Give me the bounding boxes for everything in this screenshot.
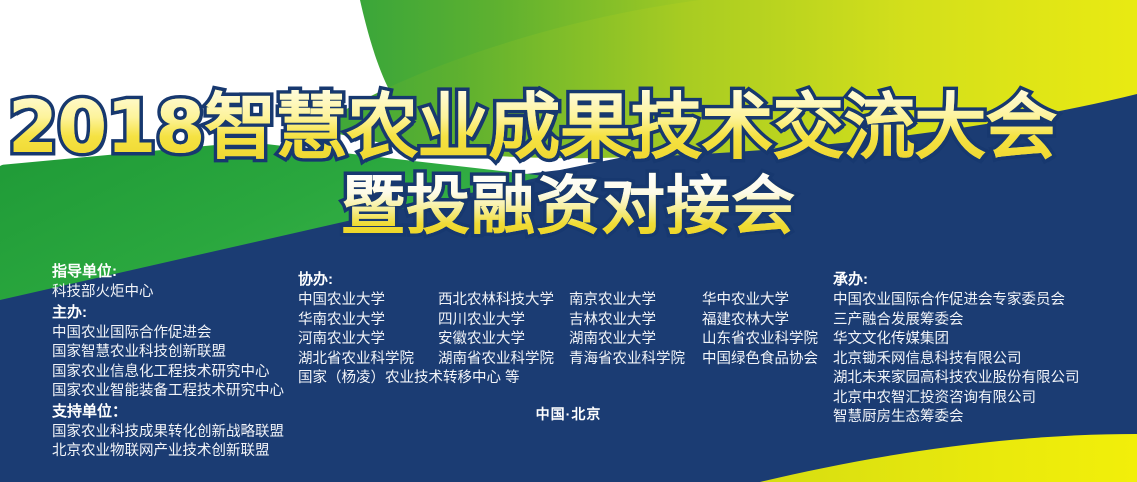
co-organizer-item: 青海省农业科学院 <box>569 350 702 370</box>
guide-unit-heading: 指导单位: <box>52 262 312 282</box>
organizer-item: 北京锄禾网信息科技有限公司 <box>833 350 1133 370</box>
co-organizer-row: 中国农业大学 西北农林科技大学 南京农业大学 华中农业大学 <box>298 291 818 311</box>
organizer-item: 华文文化传媒集团 <box>833 330 1133 350</box>
co-organizer-item: 湖北省农业科学院 <box>298 350 438 370</box>
host-unit-heading: 主办: <box>52 303 312 323</box>
credits-column-middle: 协办: 中国农业大学 西北农林科技大学 南京农业大学 华中农业大学 华南农业大学… <box>298 270 818 389</box>
event-banner-poster: 2018智慧农业成果技术交流大会 2018智慧农业成果技术交流大会 暨投融资对接… <box>0 0 1137 482</box>
co-organizer-item: 华南农业大学 <box>298 311 438 331</box>
co-organizer-item: 湖南农业大学 <box>569 330 702 350</box>
co-organizer-item: 河南农业大学 <box>298 330 438 350</box>
support-unit-item: 国家农业科技成果转化创新战略联盟 <box>52 423 312 443</box>
co-organizer-item: 中国绿色食品协会 <box>702 350 818 370</box>
co-organizer-item: 湖南省农业科学院 <box>438 350 569 370</box>
co-organizer-item: 福建农林大学 <box>702 311 789 331</box>
co-organizer-item: 安徽农业大学 <box>438 330 569 350</box>
co-organizer-item: 吉林农业大学 <box>569 311 702 331</box>
organizer-heading: 承办: <box>833 270 1133 290</box>
co-organizer-row: 湖北省农业科学院 湖南省农业科学院 青海省农业科学院 中国绿色食品协会 <box>298 350 818 370</box>
credits-column-left: 指导单位: 科技部火炬中心 主办: 中国农业国际合作促进会 国家智慧农业科技创新… <box>52 262 312 462</box>
guide-unit-item: 科技部火炬中心 <box>52 283 312 303</box>
co-organizer-tail: 国家（杨凌）农业技术转移中心 等 <box>298 369 818 389</box>
host-unit-item: 国家农业信息化工程技术研究中心 <box>52 363 312 383</box>
co-organizer-item: 中国农业大学 <box>298 291 438 311</box>
co-organizer-row: 河南农业大学 安徽农业大学 湖南农业大学 山东省农业科学院 <box>298 330 818 350</box>
organizer-item: 三产融合发展筹委会 <box>833 311 1133 331</box>
support-unit-item: 北京农业物联网产业技术创新联盟 <box>52 442 312 462</box>
co-organizer-item: 南京农业大学 <box>569 291 702 311</box>
credits-column-right: 承办: 中国农业国际合作促进会专家委员会 三产融合发展筹委会 华文文化传媒集团 … <box>833 270 1133 428</box>
organizer-item: 湖北未来家园高科技农业股份有限公司 <box>833 369 1133 389</box>
co-organizer-item: 华中农业大学 <box>702 291 789 311</box>
co-organizer-heading: 协办: <box>298 270 818 290</box>
event-location: 中国·北京 <box>0 405 1137 423</box>
co-organizer-item: 山东省农业科学院 <box>702 330 818 350</box>
host-unit-item: 国家智慧农业科技创新联盟 <box>52 343 312 363</box>
co-organizer-row: 华南农业大学 四川农业大学 吉林农业大学 福建农林大学 <box>298 311 818 331</box>
host-unit-item: 中国农业国际合作促进会 <box>52 324 312 344</box>
co-organizer-item: 西北农林科技大学 <box>438 291 569 311</box>
host-unit-item: 国家农业智能装备工程技术研究中心 <box>52 382 312 402</box>
co-organizer-item: 四川农业大学 <box>438 311 569 331</box>
organizer-item: 中国农业国际合作促进会专家委员会 <box>833 291 1133 311</box>
